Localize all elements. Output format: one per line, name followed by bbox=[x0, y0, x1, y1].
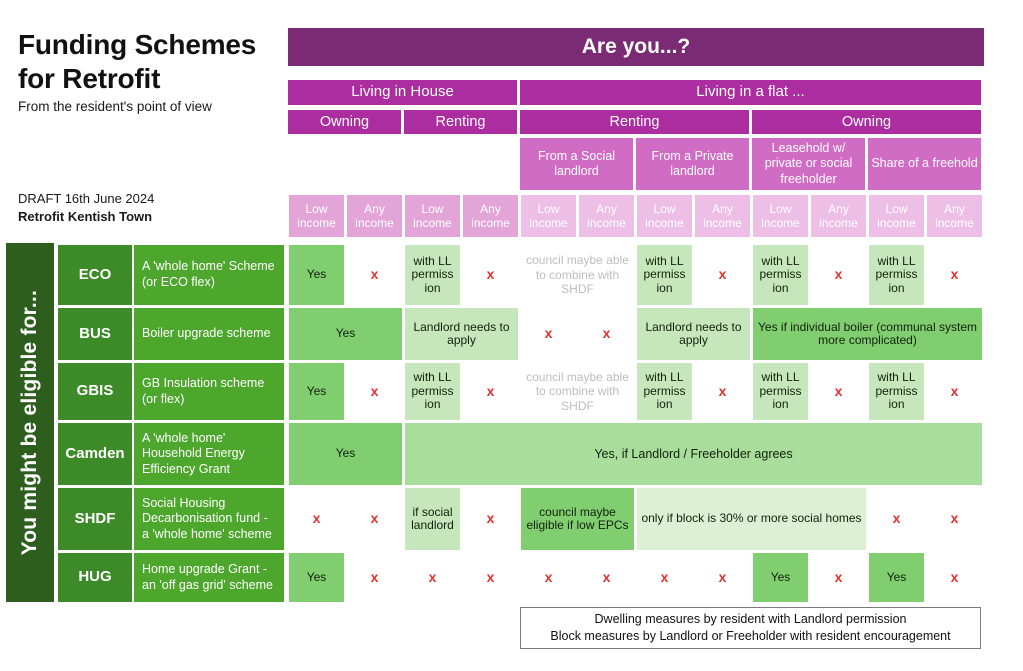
scheme-desc-bus: Boiler upgrade scheme bbox=[134, 308, 284, 360]
cell-eco-7: x bbox=[695, 245, 750, 305]
cell-hug-3: x bbox=[463, 553, 518, 602]
scheme-code-hug: HUG bbox=[58, 553, 132, 602]
cell-bus-5: x bbox=[579, 308, 634, 360]
cell-gbis-6: with LL permiss ion bbox=[637, 363, 692, 420]
cell-eco-2: with LL permiss ion bbox=[405, 245, 460, 305]
header-income-7: Any income bbox=[695, 195, 750, 237]
footnote-line2: Block measures by Landlord or Freeholder… bbox=[550, 628, 950, 645]
cell-gbis-10: with LL permiss ion bbox=[869, 363, 924, 420]
cell-eco-11: x bbox=[927, 245, 982, 305]
scheme-code-shdf: SHDF bbox=[58, 488, 132, 550]
header-income-5: Any income bbox=[579, 195, 634, 237]
header-subtype-2: Leasehold w/ private or social freeholde… bbox=[752, 138, 865, 190]
cell-gbis-8: with LL permiss ion bbox=[753, 363, 808, 420]
cell-bus-0: Yes bbox=[289, 308, 402, 360]
page-title-line2: for Retrofit bbox=[18, 62, 280, 96]
title-block: Funding Schemes for Retrofit From the re… bbox=[18, 28, 280, 114]
header-tenure-0: Owning bbox=[288, 110, 401, 134]
cell-shdf-10: x bbox=[869, 488, 924, 550]
cell-eco-6: with LL permiss ion bbox=[637, 245, 692, 305]
sidebar-eligibility-banner: You might be eligible for... bbox=[6, 243, 54, 602]
funding-schemes-infographic: Funding Schemes for Retrofit From the re… bbox=[0, 0, 1023, 671]
header-income-3: Any income bbox=[463, 195, 518, 237]
header-tenure-3: Owning bbox=[752, 110, 981, 134]
header-subtype-3: Share of a freehold bbox=[868, 138, 981, 190]
scheme-desc-camden: A 'whole home' Household Energy Efficien… bbox=[134, 423, 284, 485]
cell-hug-10: Yes bbox=[869, 553, 924, 602]
cell-bus-4: x bbox=[521, 308, 576, 360]
header-income-2: Low income bbox=[405, 195, 460, 237]
cell-hug-6: x bbox=[637, 553, 692, 602]
scheme-code-bus: BUS bbox=[58, 308, 132, 360]
header-subtype-1: From a Private landlord bbox=[636, 138, 749, 190]
draft-org: Retrofit Kentish Town bbox=[18, 208, 280, 226]
footnote-box: Dwelling measures by resident with Landl… bbox=[520, 607, 981, 649]
cell-gbis-7: x bbox=[695, 363, 750, 420]
cell-hug-9: x bbox=[811, 553, 866, 602]
header-income-9: Any income bbox=[811, 195, 866, 237]
cell-eco-8: with LL permiss ion bbox=[753, 245, 808, 305]
header-income-8: Low income bbox=[753, 195, 808, 237]
cell-bus-2: Landlord needs to apply bbox=[405, 308, 518, 360]
cell-hug-0: Yes bbox=[289, 553, 344, 602]
cell-hug-4: x bbox=[521, 553, 576, 602]
header-are-you: Are you...? bbox=[288, 28, 984, 66]
scheme-desc-eco: A 'whole home' Scheme (or ECO flex) bbox=[134, 245, 284, 305]
cell-gbis-1: x bbox=[347, 363, 402, 420]
cell-shdf-11: x bbox=[927, 488, 982, 550]
cell-eco-0: Yes bbox=[289, 245, 344, 305]
cell-camden-2: Yes, if Landlord / Freeholder agrees bbox=[405, 423, 982, 485]
cell-shdf-2: if social landlord bbox=[405, 488, 460, 550]
header-income-1: Any income bbox=[347, 195, 402, 237]
cell-shdf-3: x bbox=[463, 488, 518, 550]
header-income-4: Low income bbox=[521, 195, 576, 237]
cell-eco-10: with LL permiss ion bbox=[869, 245, 924, 305]
scheme-code-gbis: GBIS bbox=[58, 363, 132, 420]
draft-block: DRAFT 16th June 2024 Retrofit Kentish To… bbox=[18, 190, 280, 225]
scheme-desc-shdf: Social Housing Decarbonisation fund - a … bbox=[134, 488, 284, 550]
cell-eco-3: x bbox=[463, 245, 518, 305]
cell-camden-0: Yes bbox=[289, 423, 402, 485]
cell-gbis-4: council maybe able to combine with SHDF bbox=[521, 363, 634, 420]
cell-hug-11: x bbox=[927, 553, 982, 602]
cell-hug-7: x bbox=[695, 553, 750, 602]
cell-gbis-0: Yes bbox=[289, 363, 344, 420]
scheme-code-camden: Camden bbox=[58, 423, 132, 485]
scheme-desc-hug: Home upgrade Grant - an 'off gas grid' s… bbox=[134, 553, 284, 602]
cell-shdf-6: only if block is 30% or more social home… bbox=[637, 488, 866, 550]
cell-eco-4: council maybe able to combine with SHDF bbox=[521, 245, 634, 305]
cell-shdf-4: council maybe eligible if low EPCs bbox=[521, 488, 634, 550]
header-living-0: Living in House bbox=[288, 80, 517, 105]
cell-eco-1: x bbox=[347, 245, 402, 305]
header-tenure-2: Renting bbox=[520, 110, 749, 134]
cell-shdf-0: x bbox=[289, 488, 344, 550]
cell-hug-2: x bbox=[405, 553, 460, 602]
header-subtype-0: From a Social landlord bbox=[520, 138, 633, 190]
header-tenure-1: Renting bbox=[404, 110, 517, 134]
cell-hug-8: Yes bbox=[753, 553, 808, 602]
header-living-1: Living in a flat ... bbox=[520, 80, 981, 105]
page-subtitle: From the resident's point of view bbox=[18, 99, 280, 114]
cell-gbis-9: x bbox=[811, 363, 866, 420]
page-title-line1: Funding Schemes bbox=[18, 28, 280, 62]
header-income-6: Low income bbox=[637, 195, 692, 237]
cell-gbis-2: with LL permiss ion bbox=[405, 363, 460, 420]
cell-eco-9: x bbox=[811, 245, 866, 305]
cell-hug-5: x bbox=[579, 553, 634, 602]
sidebar-label: You might be eligible for... bbox=[18, 290, 42, 555]
cell-bus-8: Yes if individual boiler (communal syste… bbox=[753, 308, 982, 360]
header-income-10: Low income bbox=[869, 195, 924, 237]
cell-gbis-3: x bbox=[463, 363, 518, 420]
header-income-0: Low income bbox=[289, 195, 344, 237]
draft-date: DRAFT 16th June 2024 bbox=[18, 190, 280, 208]
scheme-desc-gbis: GB Insulation scheme (or flex) bbox=[134, 363, 284, 420]
footnote-line1: Dwelling measures by resident with Landl… bbox=[595, 611, 907, 628]
cell-bus-6: Landlord needs to apply bbox=[637, 308, 750, 360]
cell-shdf-1: x bbox=[347, 488, 402, 550]
header-income-11: Any income bbox=[927, 195, 982, 237]
scheme-code-eco: ECO bbox=[58, 245, 132, 305]
cell-hug-1: x bbox=[347, 553, 402, 602]
cell-gbis-11: x bbox=[927, 363, 982, 420]
